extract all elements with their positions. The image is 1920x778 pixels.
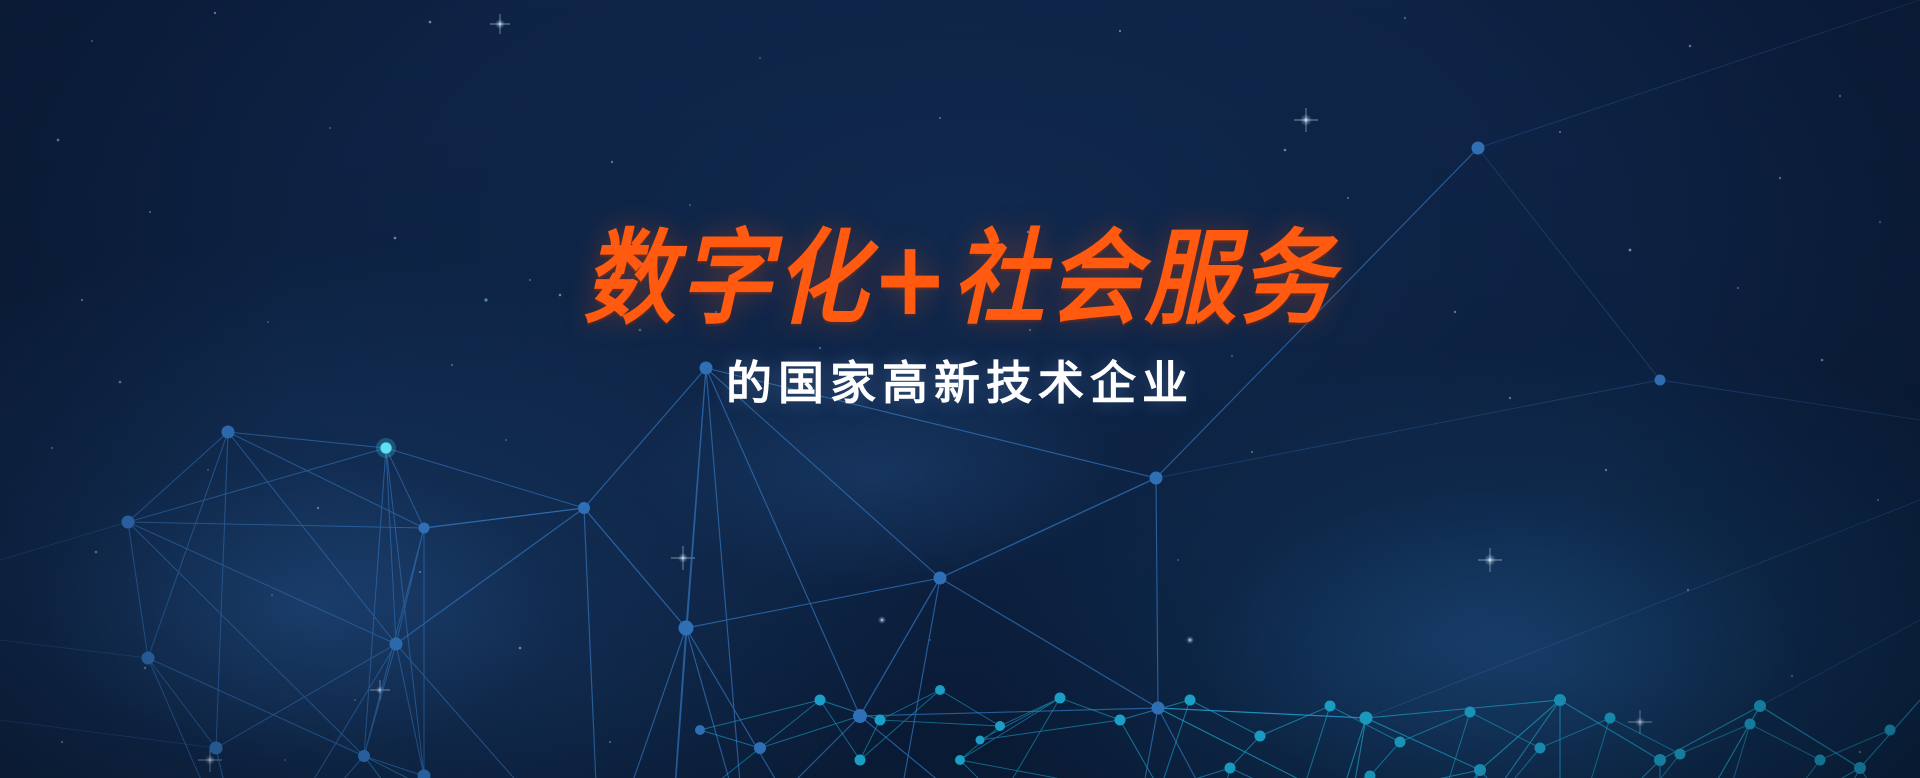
banner-text-block: 数字化+社会服务 的国家高新技术企业 xyxy=(0,228,1920,406)
page-title: 数字化+社会服务 xyxy=(0,228,1920,331)
hero-banner: 数字化+社会服务 的国家高新技术企业 xyxy=(0,0,1920,778)
